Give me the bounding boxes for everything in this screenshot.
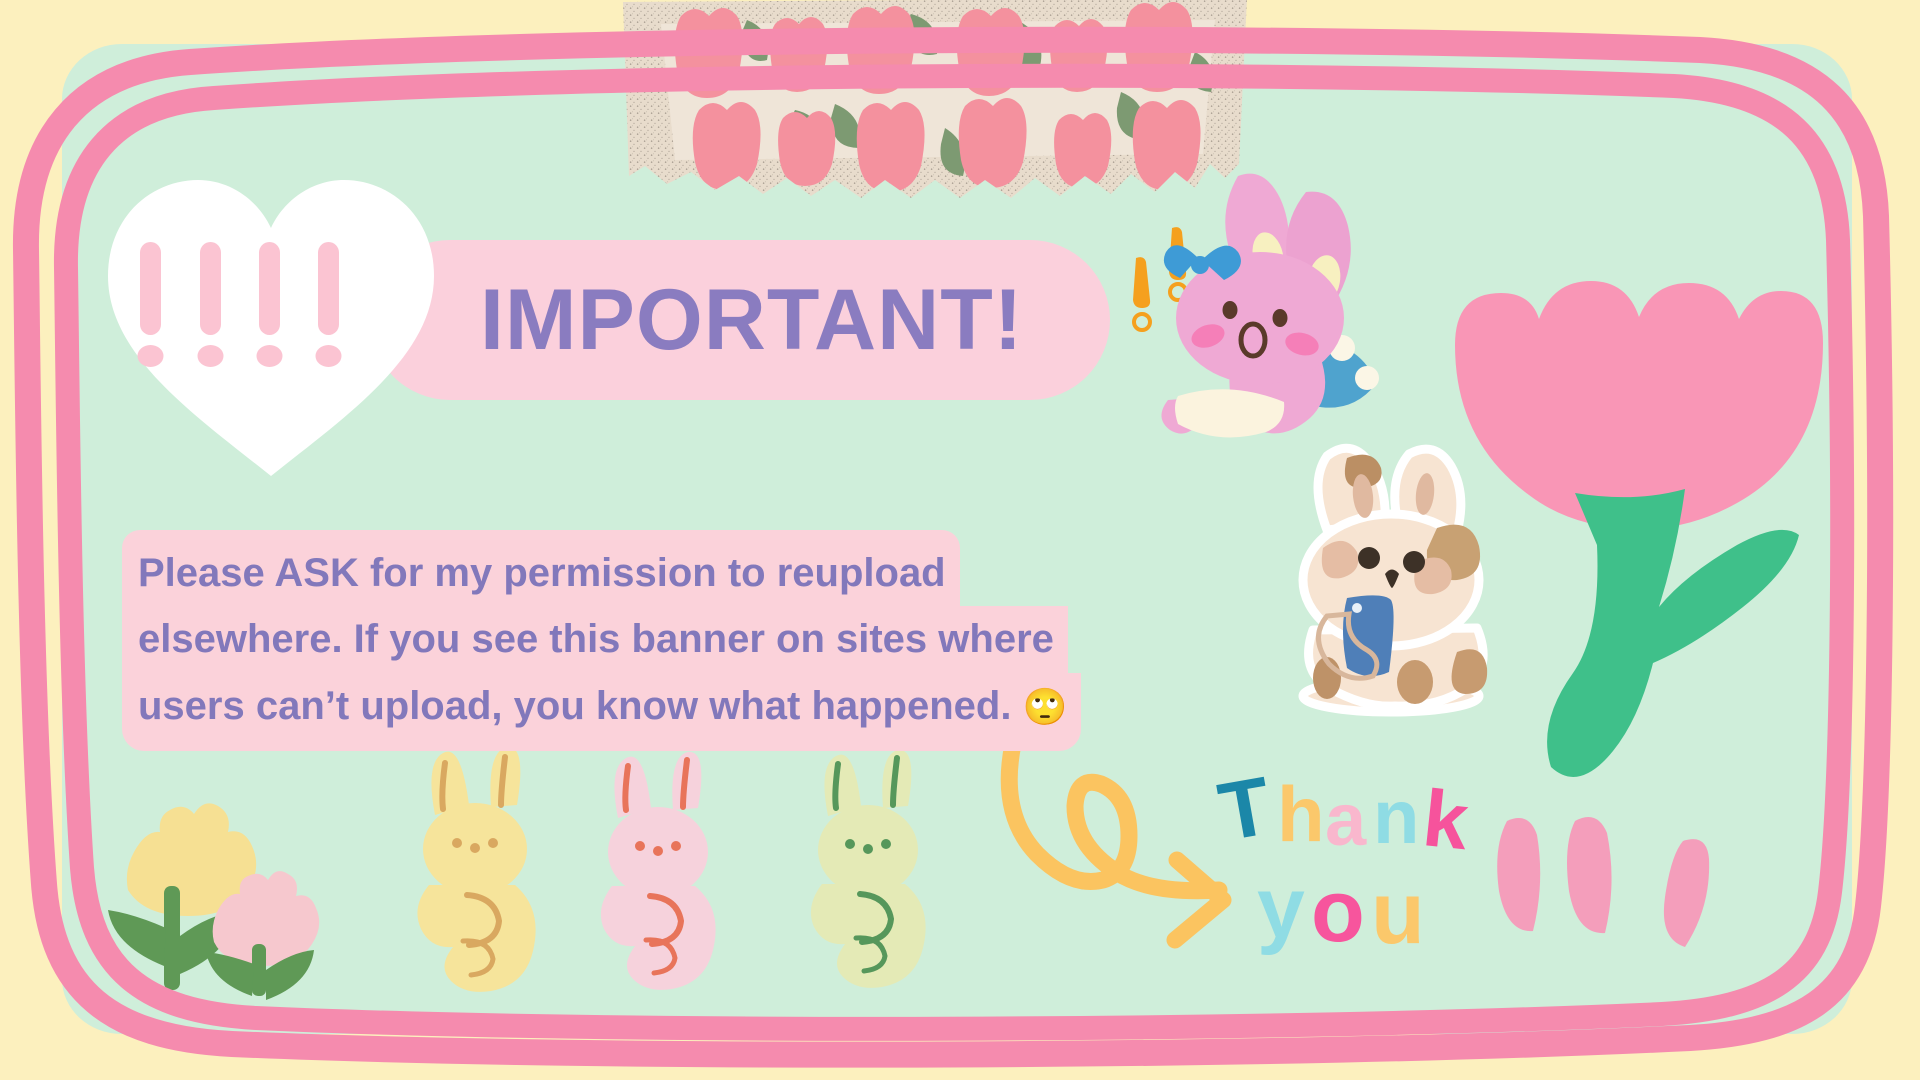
thankyou-letter-o: o [1311,861,1365,960]
small-tulips-sticker [100,750,340,1000]
message-text-block: Please ASK for my permission to reupload… [122,530,1167,751]
green-bunny-cookie-sticker [800,748,945,980]
thankyou-letter-u: u [1371,863,1425,962]
pink-bunny-with-cape-sticker [1120,170,1400,470]
rolling-eyes-emoji: 🙄 [1023,686,1068,727]
white-heart-with-exclamations [96,166,446,486]
banner-canvas: IMPORTANT! [0,0,1920,1080]
thank-you-lettering: T h a n k y o u [1215,755,1515,970]
yellow-bunny-cookie-sticker [405,745,555,980]
thankyou-letter-T: T [1213,760,1278,858]
message-line-3: users can’t upload, you know what happen… [122,673,1081,751]
page-title: IMPORTANT! [480,271,1023,370]
thankyou-letter-y: y [1257,860,1305,956]
thankyou-letter-k: k [1419,773,1473,866]
thankyou-letter-n: n [1373,775,1419,860]
important-banner: IMPORTANT! [370,240,1110,400]
cream-bunny-with-phone-sticker [1285,440,1500,715]
pink-bunny-cookie-sticker [590,750,735,980]
thankyou-letter-h: h [1277,770,1325,858]
message-line-1: Please ASK for my permission to reupload [122,530,960,606]
thankyou-letter-a: a [1325,778,1367,861]
tulip-washi-tape-sticker [615,0,1255,212]
message-line-2: elsewhere. If you see this banner on sit… [122,606,1068,672]
message-line-3-text: users can’t upload, you know what happen… [138,684,1011,728]
